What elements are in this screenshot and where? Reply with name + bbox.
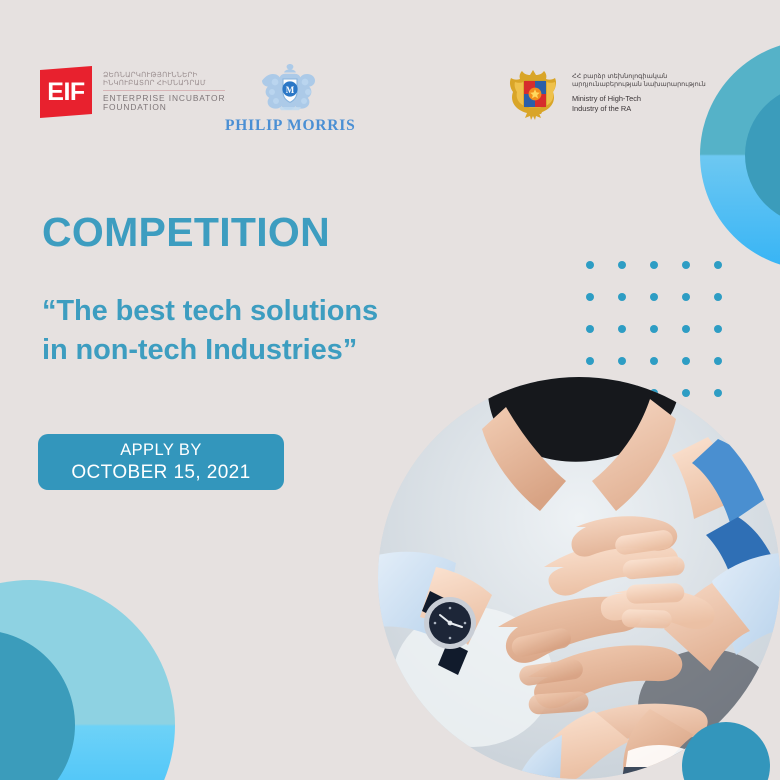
logo-philip-morris: M PHILIP MORRIS <box>225 62 356 135</box>
eif-mark-text: EIF <box>38 66 94 118</box>
philip-morris-crest-icon: M <box>259 62 321 116</box>
ministry-armenian-line-2: արդյունաբերության նախարարություն <box>572 81 706 89</box>
promotional-poster: EIF ՁԵՌՆԱՐԿՈՒԹՅՈՒՆՆԵՐԻ ԻՆԿՈՒԲԱՏՈՐ ՀԻՄՆԱԴ… <box>0 0 780 780</box>
headline-block: COMPETITION “The best tech solutions in … <box>42 212 378 369</box>
apply-by-button[interactable]: APPLY BY OCTOBER 15, 2021 <box>38 434 284 490</box>
svg-text:M: M <box>286 85 295 95</box>
eif-armenian-line-2: ԻՆԿՈՒԲԱՏՈՐ ՀԻՄՆԱԴՐԱՄ <box>103 79 225 87</box>
eif-english-line-2: FOUNDATION <box>103 103 225 113</box>
armenian-coat-of-arms-icon <box>508 64 562 122</box>
apply-deadline-date: OCTOBER 15, 2021 <box>71 461 250 486</box>
ministry-english-line-1: Ministry of High-Tech <box>572 94 706 103</box>
teamwork-photo <box>378 377 780 779</box>
sponsor-logo-bar: EIF ՁԵՌՆԱՐԿՈՒԹՅՈՒՆՆԵՐԻ ԻՆԿՈՒԲԱՏՈՐ ՀԻՄՆԱԴ… <box>0 58 780 148</box>
eif-divider <box>103 90 225 91</box>
eif-mark-icon: EIF <box>38 66 94 118</box>
ministry-armenian-line-1: ՀՀ բարձր տեխնոլոգիական <box>572 73 706 81</box>
ministry-english-line-2: Industry of the RA <box>572 104 706 113</box>
headline-subtitle: “The best tech solutions in non-tech Ind… <box>42 292 378 369</box>
logo-eif: EIF ՁԵՌՆԱՐԿՈՒԹՅՈՒՆՆԵՐԻ ԻՆԿՈՒԲԱՏՈՐ ՀԻՄՆԱԴ… <box>38 66 225 118</box>
page-title: COMPETITION <box>42 212 378 253</box>
stacked-hands-illustration <box>378 377 780 779</box>
apply-by-label: APPLY BY <box>120 439 201 461</box>
philip-morris-name: PHILIP MORRIS <box>225 117 356 135</box>
logo-ministry: ՀՀ բարձր տեխնոլոգիական արդյունաբերության… <box>508 64 706 122</box>
